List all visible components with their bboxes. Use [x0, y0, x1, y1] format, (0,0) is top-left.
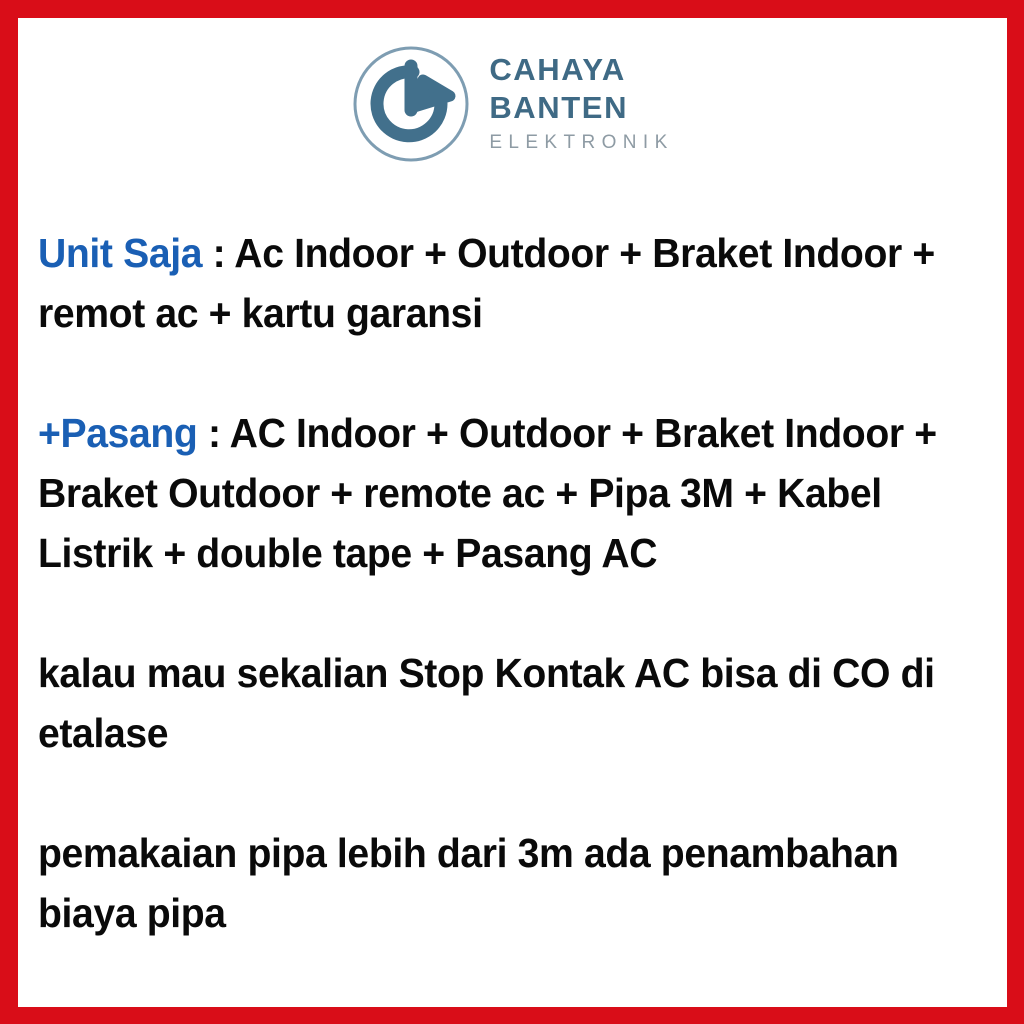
package-description-list: Unit Saja : Ac Indoor + Outdoor + Braket…	[38, 223, 993, 943]
paragraph-pasang: +Pasang : AC Indoor + Outdoor + Braket I…	[38, 403, 950, 583]
brand-logo: CAHAYA BANTEN ELEKTRONIK	[18, 44, 1007, 164]
brand-name-line-1: CAHAYA	[489, 51, 673, 89]
paragraph-stop-kontak: kalau mau sekalian Stop Kontak AC bisa d…	[38, 643, 950, 763]
paragraph-pipa-tambahan: pemakaian pipa lebih dari 3m ada penamba…	[38, 823, 950, 943]
paragraph-body-stop-kontak: kalau mau sekalian Stop Kontak AC bisa d…	[38, 650, 935, 756]
paragraph-label-unit-saja: Unit Saja	[38, 230, 202, 276]
power-button-arrow-icon	[351, 44, 471, 164]
brand-name-line-2: BANTEN	[489, 89, 673, 127]
brand-wordmark: CAHAYA BANTEN ELEKTRONIK	[489, 51, 673, 157]
brand-tagline: ELEKTRONIK	[489, 129, 673, 158]
poster-card: CAHAYA BANTEN ELEKTRONIK Unit Saja : Ac …	[18, 18, 1007, 1007]
paragraph-label-pasang: +Pasang	[38, 410, 197, 456]
paragraph-body-pipa-tambahan: pemakaian pipa lebih dari 3m ada penamba…	[38, 830, 898, 936]
poster-frame: CAHAYA BANTEN ELEKTRONIK Unit Saja : Ac …	[0, 0, 1024, 1024]
paragraph-unit-saja: Unit Saja : Ac Indoor + Outdoor + Braket…	[38, 223, 950, 343]
